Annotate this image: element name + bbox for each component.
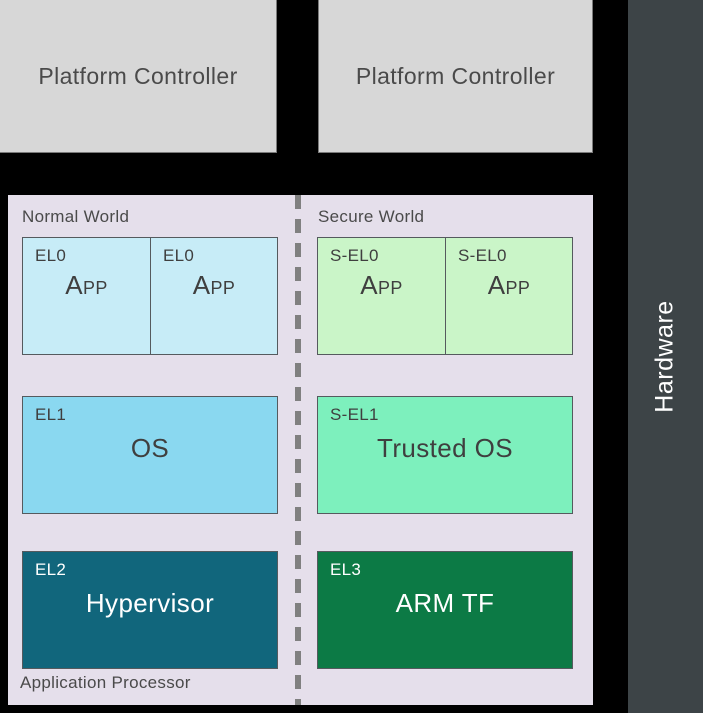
normal-world-os-box: EL1 OS — [22, 396, 278, 514]
diagram-canvas: Platform Controller Platform Controller … — [0, 0, 703, 713]
secure-world-app-title-2: App — [446, 270, 572, 301]
secure-world-arm-tf-box: EL3 ARM TF — [317, 551, 573, 669]
platform-controller-label-2: Platform Controller — [356, 63, 555, 90]
secure-world-app-level-2: S-EL0 — [458, 246, 507, 266]
secure-world-trusted-os-box: S-EL1 Trusted OS — [317, 396, 573, 514]
secure-world-app-title-1: App — [318, 270, 445, 301]
normal-world-os-title: OS — [23, 433, 277, 464]
secure-world-trusted-os-title: Trusted OS — [318, 433, 572, 464]
normal-world-hypervisor-title: Hypervisor — [23, 588, 277, 619]
normal-world-hypervisor-level: EL2 — [35, 560, 66, 580]
secure-world-arm-tf-level: EL3 — [330, 560, 361, 580]
hardware-strip: Hardware — [628, 0, 703, 713]
normal-world-app-level-2: EL0 — [163, 246, 194, 266]
hardware-label: Hardware — [651, 300, 680, 412]
secure-world-app-pair: S-EL0 App S-EL0 App — [317, 237, 573, 355]
normal-world-caption: Normal World — [22, 207, 129, 227]
secure-world-app-cell-1: S-EL0 App — [318, 238, 445, 354]
normal-world-hypervisor-box: EL2 Hypervisor — [22, 551, 278, 669]
platform-controller-box-1: Platform Controller — [0, 0, 277, 153]
application-processor-panel: Normal World Secure World EL0 App EL0 Ap… — [8, 195, 593, 705]
platform-controller-label-1: Platform Controller — [38, 63, 237, 90]
normal-world-os-level: EL1 — [35, 405, 66, 425]
world-divider-dashed-line — [295, 195, 301, 705]
application-processor-caption: Application Processor — [20, 673, 191, 693]
secure-world-app-cell-2: S-EL0 App — [445, 238, 572, 354]
secure-world-trusted-os-level: S-EL1 — [330, 405, 379, 425]
normal-world-app-cell-2: EL0 App — [150, 238, 277, 354]
secure-world-app-level-1: S-EL0 — [330, 246, 379, 266]
secure-world-caption: Secure World — [318, 207, 424, 227]
normal-world-app-title-2: App — [151, 270, 277, 301]
normal-world-app-level-1: EL0 — [35, 246, 66, 266]
normal-world-app-cell-1: EL0 App — [23, 238, 150, 354]
platform-controller-box-2: Platform Controller — [318, 0, 593, 153]
secure-world-arm-tf-title: ARM TF — [318, 588, 572, 619]
normal-world-app-pair: EL0 App EL0 App — [22, 237, 278, 355]
normal-world-app-title-1: App — [23, 270, 150, 301]
